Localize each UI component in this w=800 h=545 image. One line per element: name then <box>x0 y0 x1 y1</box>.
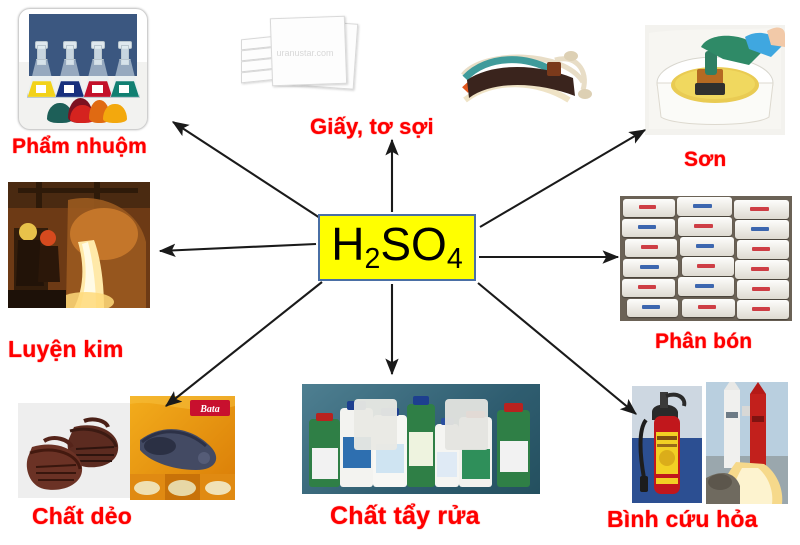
arrow-to-extinguisher <box>478 283 636 414</box>
arrow-to-plastics <box>166 282 322 406</box>
diagram-canvas: H2SO4 <box>0 0 800 545</box>
arrow-to-dye <box>173 122 320 218</box>
arrow-to-metallurgy <box>160 244 316 251</box>
center-formula: H2SO4 <box>331 221 462 274</box>
center-node-h2so4[interactable]: H2SO4 <box>318 214 476 281</box>
arrow-to-paint <box>480 130 645 227</box>
